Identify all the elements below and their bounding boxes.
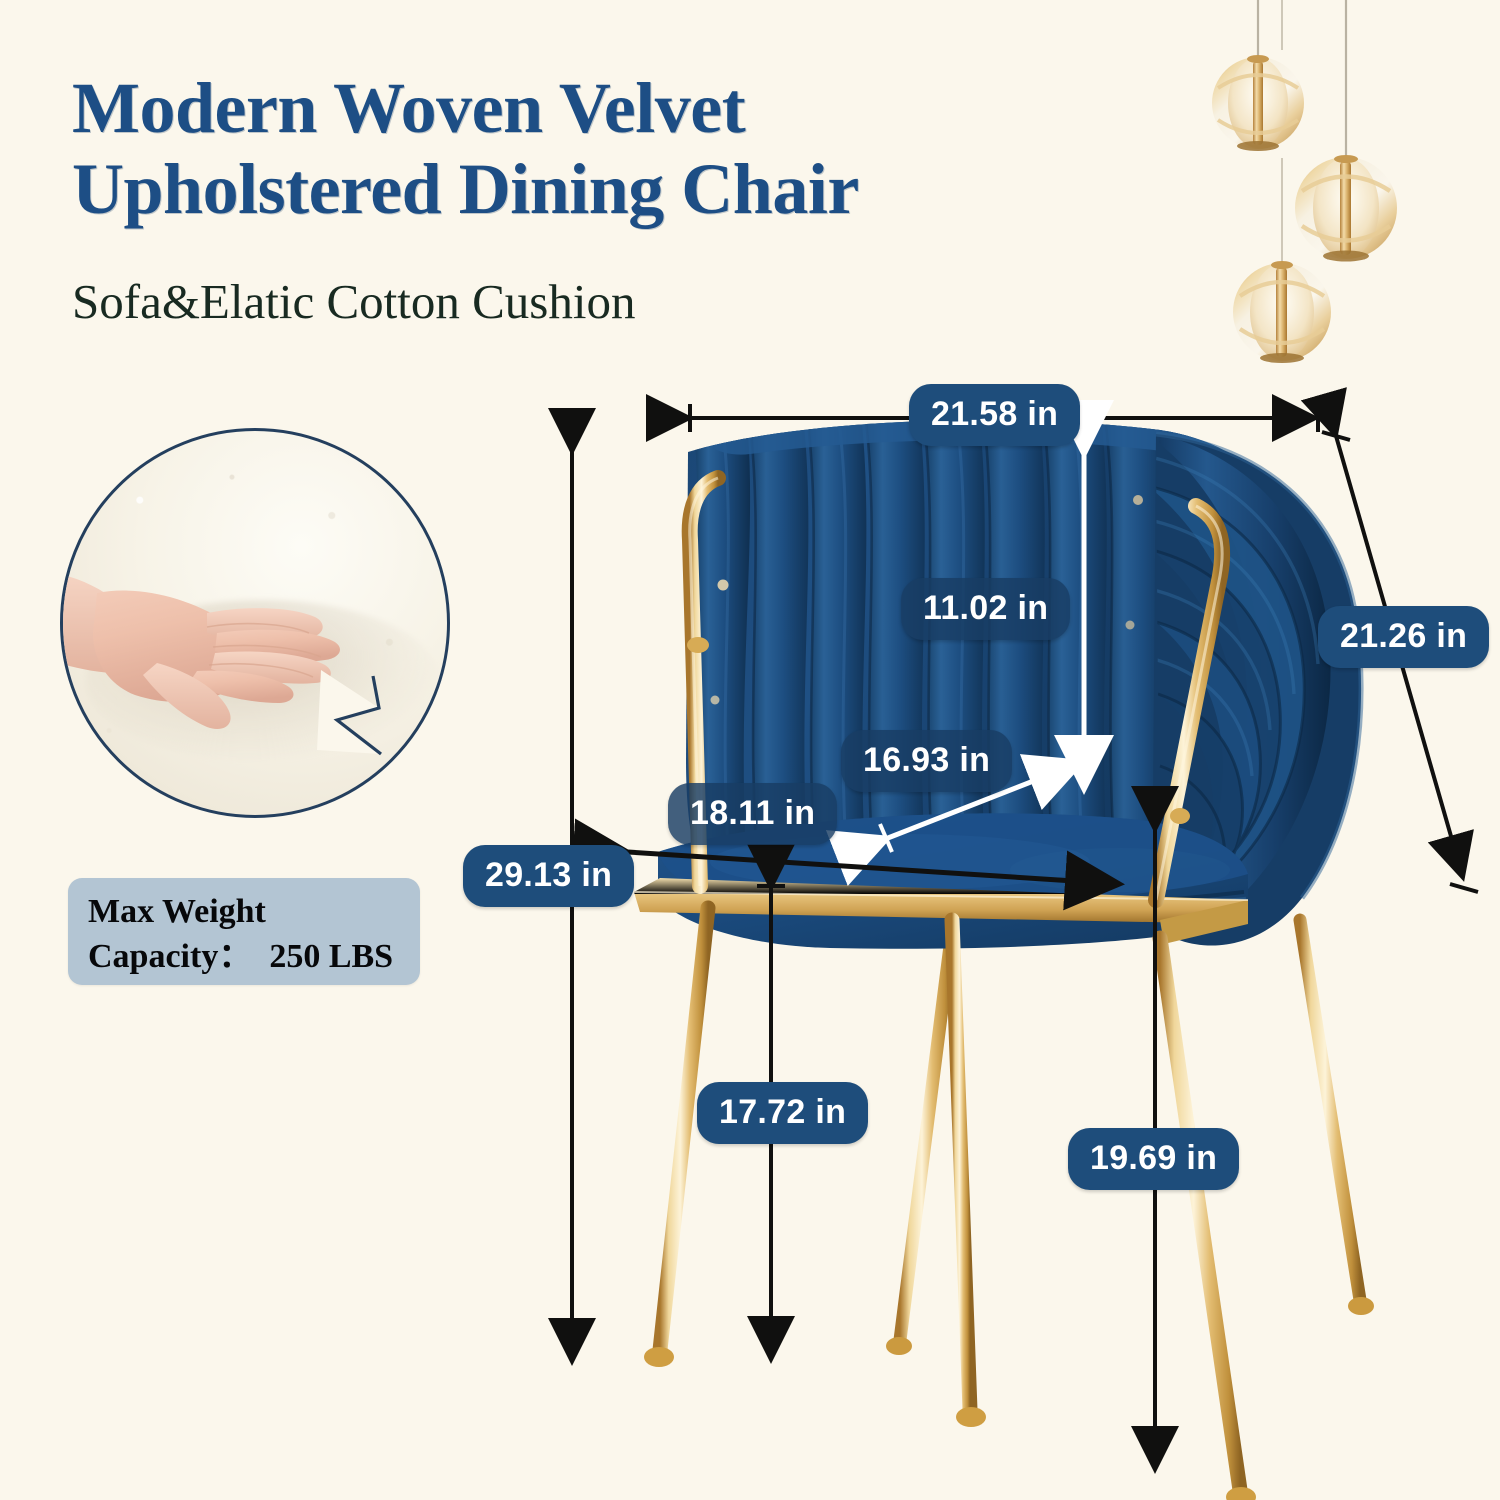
dimension-pill-seat-depth: 16.93 in xyxy=(841,730,1012,792)
dimension-pill-seat-width: 18.11 in xyxy=(668,783,837,845)
max-weight-line-1: Max Weight xyxy=(88,890,420,935)
dimension-pill-floor-to-back-depth: 19.69 in xyxy=(1068,1128,1239,1190)
bubble-tail xyxy=(315,664,425,774)
title-line-2: Upholstered Dining Chair xyxy=(72,149,1102,230)
pendant-lamp-1 xyxy=(1212,55,1304,151)
title-line-1: Modern Woven Velvet xyxy=(72,68,1102,149)
page-title: Modern Woven Velvet Upholstered Dining C… xyxy=(72,68,1102,229)
chair-graphic xyxy=(600,400,1430,1500)
chair-legs-front xyxy=(644,908,1256,1500)
product-infographic: Modern Woven Velvet Upholstered Dining C… xyxy=(0,0,1500,1500)
pendant-lamps-icon xyxy=(1186,0,1500,380)
dimension-pill-overall-depth: 21.26 in xyxy=(1318,606,1489,668)
pendant-lamp-2 xyxy=(1295,155,1397,262)
dining-chair-product-image xyxy=(600,400,1430,1500)
dimension-pill-overall-width: 21.58 in xyxy=(909,384,1080,446)
max-weight-line-2: Capacity： 250 LBS xyxy=(88,935,420,980)
pendant-lamp-3 xyxy=(1233,261,1331,363)
dimension-pill-overall-height: 29.13 in xyxy=(463,845,634,907)
max-weight-capacity-chip: Max Weight Capacity： 250 LBS xyxy=(68,878,420,985)
dimension-pill-seat-height: 17.72 in xyxy=(697,1082,868,1144)
cushion-callout-bubble xyxy=(60,428,450,818)
page-subtitle: Sofa&Elatic Cotton Cushion xyxy=(72,275,635,329)
pendant-lamps-decor xyxy=(1186,0,1500,380)
dimension-pill-backrest-height: 11.02 in xyxy=(901,578,1070,640)
